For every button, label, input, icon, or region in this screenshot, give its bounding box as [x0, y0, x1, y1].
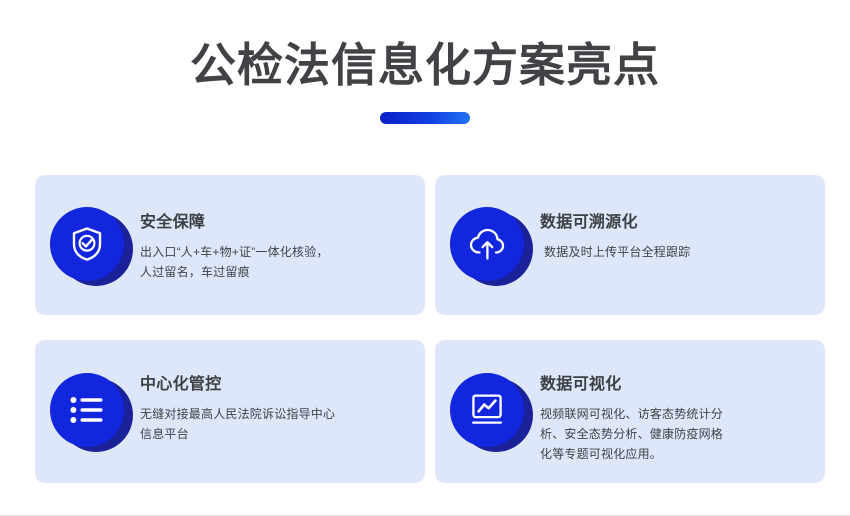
feature-card[interactable]: 安全保障 出入口“人+车+物+证”一体化核验，人过留名，车过留痕: [35, 175, 425, 315]
card-title: 中心化管控: [140, 375, 411, 395]
card-title: 数据可溯源化: [540, 213, 811, 233]
card-description: 无缝对接最高人民法院诉讼指导中心信息平台: [140, 404, 340, 444]
page-root: 公检法信息化方案亮点 安全保障 出入口“人+车+物+证”一体化核验，人过留名，车…: [0, 0, 850, 516]
title-underline-bar: [380, 112, 470, 124]
card-body: 数据可视化 视频联网可视化、访客态势统计分析、安全态势分析、健康防疫网格化等专题…: [524, 340, 825, 464]
icon-badge: [450, 207, 524, 281]
page-header: 公检法信息化方案亮点: [0, 0, 850, 124]
icon-badge: [450, 373, 524, 447]
card-description: 出入口“人+车+物+证”一体化核验，人过留名，车过留痕: [140, 242, 340, 282]
chart-monitor-icon: [450, 373, 524, 447]
list-icon: [50, 373, 124, 447]
card-title: 数据可视化: [540, 375, 811, 395]
feature-card[interactable]: 中心化管控 无缝对接最高人民法院诉讼指导中心信息平台: [35, 340, 425, 483]
card-title: 安全保障: [140, 213, 411, 233]
card-description: 视频联网可视化、访客态势统计分析、安全态势分析、健康防疫网格化等专题可视化应用。: [540, 404, 735, 464]
page-title: 公检法信息化方案亮点: [0, 0, 850, 94]
icon-badge: [50, 373, 124, 447]
shield-check-icon: [50, 207, 124, 281]
feature-card-grid: 安全保障 出入口“人+车+物+证”一体化核验，人过留名，车过留痕 数据可溯源化: [35, 175, 825, 483]
card-body: 中心化管控 无缝对接最高人民法院诉讼指导中心信息平台: [124, 340, 425, 444]
card-body: 安全保障 出入口“人+车+物+证”一体化核验，人过留名，车过留痕: [124, 175, 425, 282]
feature-card[interactable]: 数据可视化 视频联网可视化、访客态势统计分析、安全态势分析、健康防疫网格化等专题…: [435, 340, 825, 483]
icon-badge: [50, 207, 124, 281]
cloud-upload-icon: [450, 207, 524, 281]
card-description: 数据及时上传平台全程跟踪: [540, 242, 744, 262]
feature-card[interactable]: 数据可溯源化 数据及时上传平台全程跟踪: [435, 175, 825, 315]
card-body: 数据可溯源化 数据及时上传平台全程跟踪: [524, 175, 825, 262]
